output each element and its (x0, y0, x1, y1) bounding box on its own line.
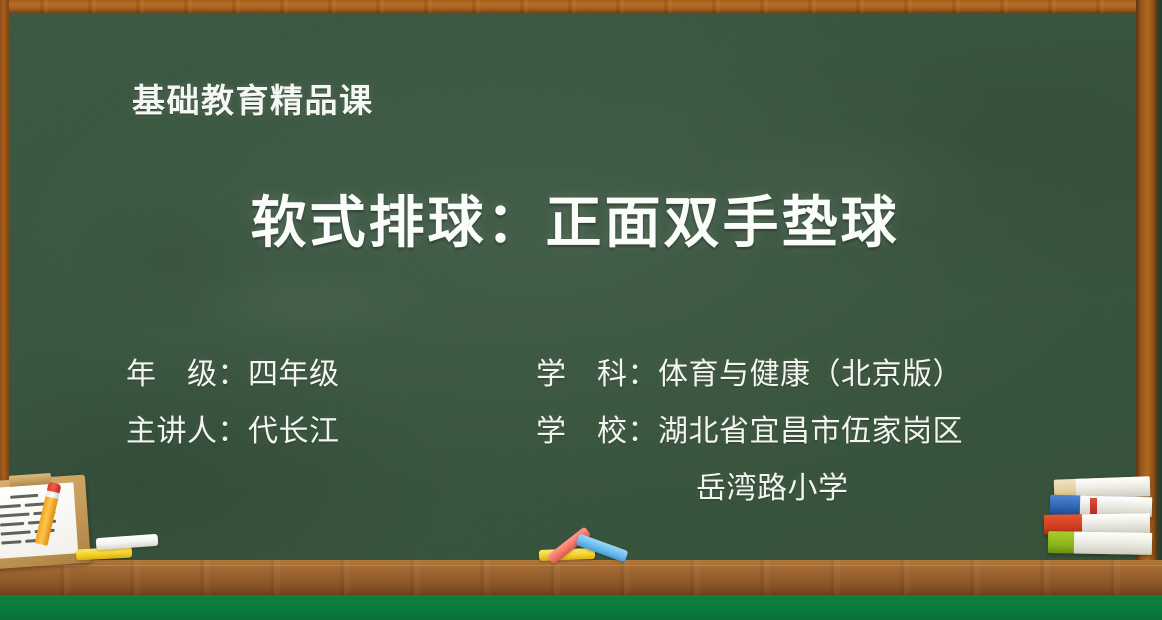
lesson-title-slide: 基础教育精品课 软式排球：正面双手垫球 年 级： 四年级 主讲人： 代长江 学 … (0, 0, 1162, 620)
meta-label-subject: 学 科： (536, 350, 658, 399)
meta-label-presenter: 主讲人： (126, 407, 248, 456)
book-stack-icon (1044, 478, 1154, 564)
meta-label-school: 学 校： (536, 407, 658, 456)
book-pages (1074, 532, 1152, 555)
chalk-ledge (0, 560, 1162, 598)
meta-value-school-line2: 岳湾路小学 (696, 464, 849, 513)
meta-row-grade: 年 级： 四年级 (126, 350, 536, 399)
board-frame-top (0, 0, 1162, 13)
meta-row-school: 学 校： 湖北省宜昌市伍家岗区 (536, 407, 1066, 456)
bookmark-icon (1090, 498, 1097, 515)
meta-value-school: 湖北省宜昌市伍家岗区 (658, 407, 963, 456)
page-eyebrow: 基础教育精品课 (132, 74, 374, 122)
board-frame-right-edge (1157, 0, 1162, 620)
meta-column-right: 学 科： 体育与健康（北京版） 学 校： 湖北省宜昌市伍家岗区 岳湾路小学 (536, 350, 1066, 513)
book-green (1048, 531, 1152, 555)
meta-value-presenter: 代长江 (248, 407, 340, 456)
meta-value-subject: 体育与健康（北京版） (658, 350, 963, 399)
meta-row-subject: 学 科： 体育与健康（北京版） (536, 350, 1066, 399)
meta-row-school-continued: 岳湾路小学 (536, 464, 1066, 513)
meta-value-grade: 四年级 (248, 350, 340, 399)
page-title: 软式排球：正面双手垫球 (0, 178, 1150, 259)
meta-row-presenter: 主讲人： 代长江 (126, 407, 536, 456)
meta-label-grade: 年 级： (126, 350, 248, 399)
meta-column-left: 年 级： 四年级 主讲人： 代长江 (126, 350, 536, 513)
ledge-front-band (0, 595, 1162, 620)
lesson-meta-block: 年 级： 四年级 主讲人： 代长江 学 科： 体育与健康（北京版） 学 校： 湖… (126, 350, 1086, 513)
